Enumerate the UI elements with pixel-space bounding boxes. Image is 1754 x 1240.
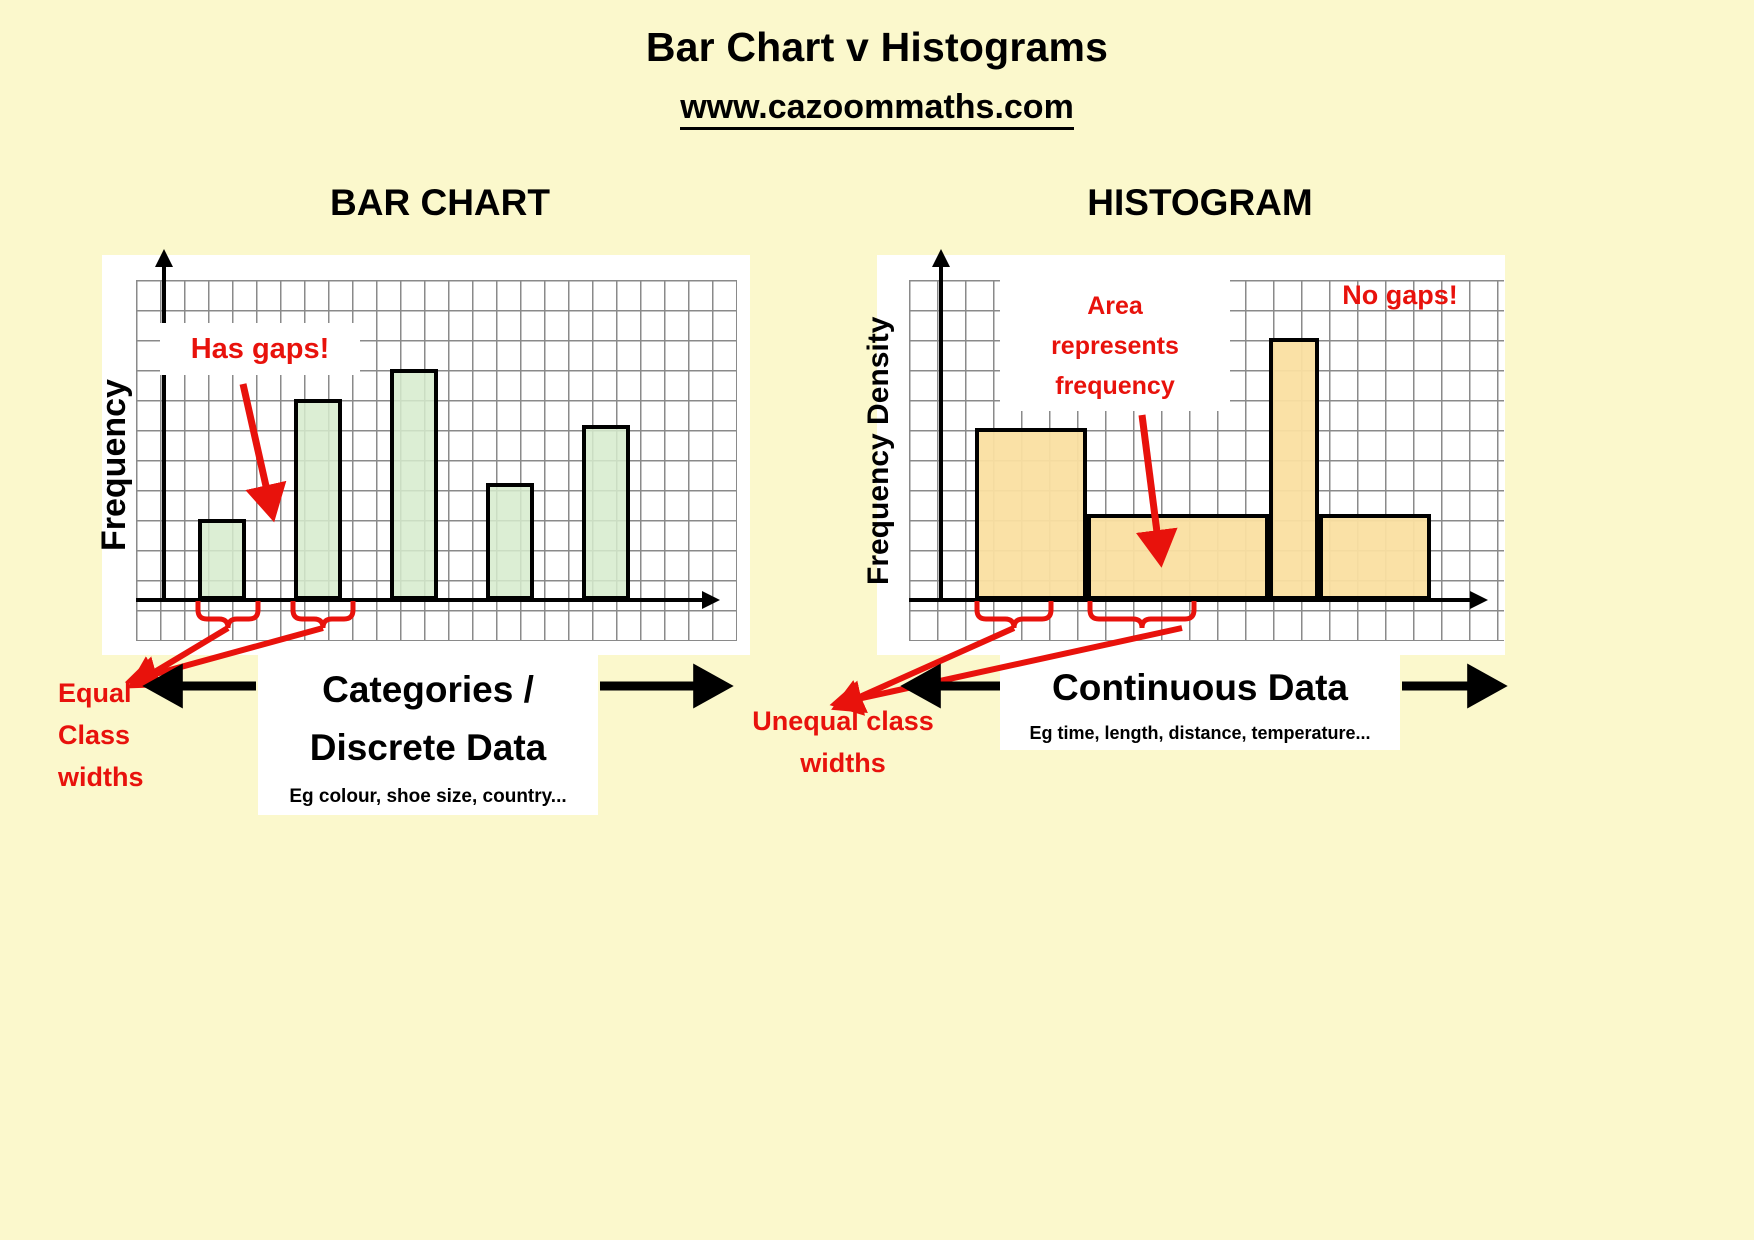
- bar-chart-y-axis-arrow: [155, 249, 173, 267]
- continuous-title: Continuous Data: [1000, 655, 1400, 717]
- bar-chart-plot-area: [102, 255, 750, 655]
- unequal-class-widths-line-1: Unequal class: [728, 700, 958, 742]
- histogram-y-axis-arrow: [932, 249, 950, 267]
- has-gaps-callout: Has gaps!: [160, 323, 360, 375]
- histogram-y-axis: [939, 265, 943, 600]
- area-callout-line-3: frequency: [1000, 366, 1230, 406]
- continuous-examples: Eg time, length, distance, temperature..…: [1000, 723, 1400, 744]
- area-callout-line-2: represents: [1000, 326, 1230, 366]
- histogram-x-axis-arrow: [1470, 591, 1488, 609]
- no-gaps-callout: No gaps!: [1320, 275, 1480, 315]
- bar-chart-bar-3: [390, 369, 438, 600]
- unequal-class-widths-line-2: widths: [728, 742, 958, 784]
- bar-chart-bar-4: [486, 483, 534, 600]
- histogram-bar-3: [1269, 338, 1319, 600]
- equal-class-widths-line-2: Class: [58, 714, 228, 756]
- categories-examples: Eg colour, shoe size, country...: [258, 786, 598, 808]
- equal-class-widths-line-1: Equal: [58, 672, 228, 714]
- equal-class-widths-note: Equal Class widths: [58, 672, 228, 798]
- equal-class-widths-line-3: widths: [58, 756, 228, 798]
- categories-title-line-2: Discrete Data: [258, 719, 598, 777]
- histogram-bar-2: [1087, 514, 1269, 600]
- bar-chart-bar-2: [294, 399, 342, 600]
- bar-chart-bar-1: [198, 519, 246, 600]
- categories-data-box: Categories / Discrete Data Eg colour, sh…: [258, 655, 598, 815]
- bar-chart-bar-5: [582, 425, 630, 600]
- continuous-data-box: Continuous Data Eg time, length, distanc…: [1000, 655, 1400, 750]
- categories-title-line-1: Categories /: [258, 655, 598, 719]
- website-url-text: www.cazoommaths.com: [680, 88, 1074, 130]
- bar-chart-heading: BAR CHART: [120, 182, 760, 224]
- histogram-heading: HISTOGRAM: [880, 182, 1520, 224]
- page-title: Bar Chart v Histograms: [0, 24, 1754, 71]
- histogram-bar-4: [1319, 514, 1431, 600]
- bar-chart-y-axis: [162, 265, 166, 600]
- area-callout-line-1: Area: [1000, 286, 1230, 326]
- histogram-y-axis-label: Frequency Density: [862, 278, 896, 623]
- unequal-class-widths-note: Unequal class widths: [728, 700, 958, 784]
- website-url: www.cazoommaths.com: [0, 88, 1754, 127]
- bar-chart-y-axis-label: Frequency: [95, 335, 134, 595]
- bar-chart-x-axis-arrow: [702, 591, 720, 609]
- area-represents-frequency-callout: Area represents frequency: [1000, 278, 1230, 411]
- histogram-bar-1: [975, 428, 1087, 600]
